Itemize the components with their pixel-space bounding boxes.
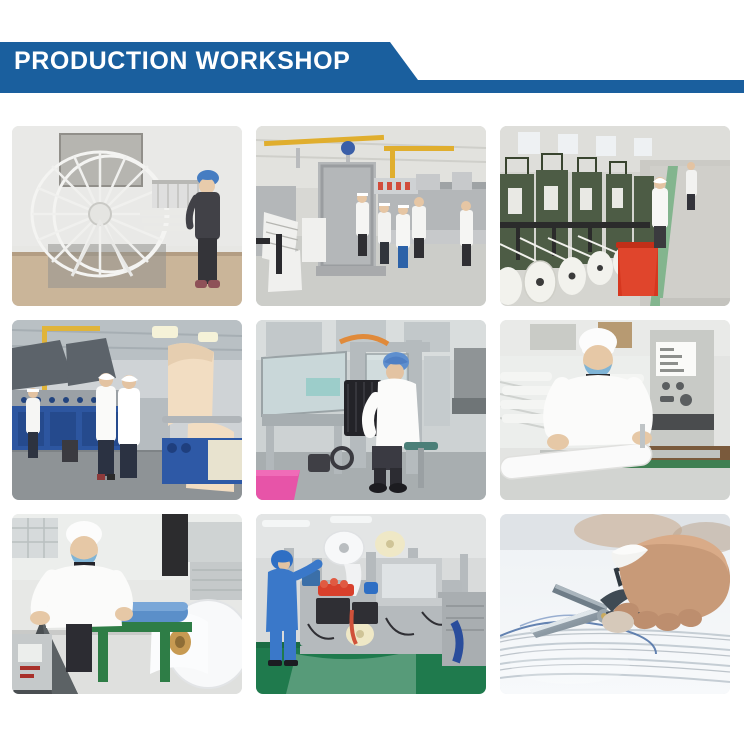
gallery-item-8[interactable] <box>256 514 486 694</box>
production-workshop-page: PRODUCTION WORKSHOP <box>0 0 744 735</box>
gallery-item-6[interactable] <box>500 320 730 500</box>
photo-slitting-machine <box>12 514 242 694</box>
photo-cleanroom-machine <box>256 514 486 694</box>
page-header-banner: PRODUCTION WORKSHOP <box>0 42 744 93</box>
worker-center-2 <box>118 375 140 478</box>
worker-left <box>26 388 40 458</box>
photo-fabric-cutting <box>500 514 730 694</box>
page-title: PRODUCTION WORKSHOP <box>14 42 350 80</box>
gallery-item-4[interactable] <box>12 320 242 500</box>
worker-center-1 <box>96 373 116 480</box>
gallery-item-1[interactable] <box>12 126 242 306</box>
gallery-item-7[interactable] <box>12 514 242 694</box>
gallery-item-2[interactable] <box>256 126 486 306</box>
photo-production-line <box>256 126 486 306</box>
photo-seated-operator <box>256 320 486 500</box>
gallery-item-9[interactable] <box>500 514 730 694</box>
photo-blue-machine-line <box>12 320 242 500</box>
gallery-item-5[interactable] <box>256 320 486 500</box>
workshop-photo-grid <box>12 126 730 694</box>
gallery-item-3[interactable] <box>500 126 730 306</box>
header-title-block: PRODUCTION WORKSHOP <box>0 42 420 93</box>
photo-roll-cutting <box>500 320 730 500</box>
photo-green-machines <box>500 126 730 306</box>
photo-drum-winder <box>12 126 242 306</box>
